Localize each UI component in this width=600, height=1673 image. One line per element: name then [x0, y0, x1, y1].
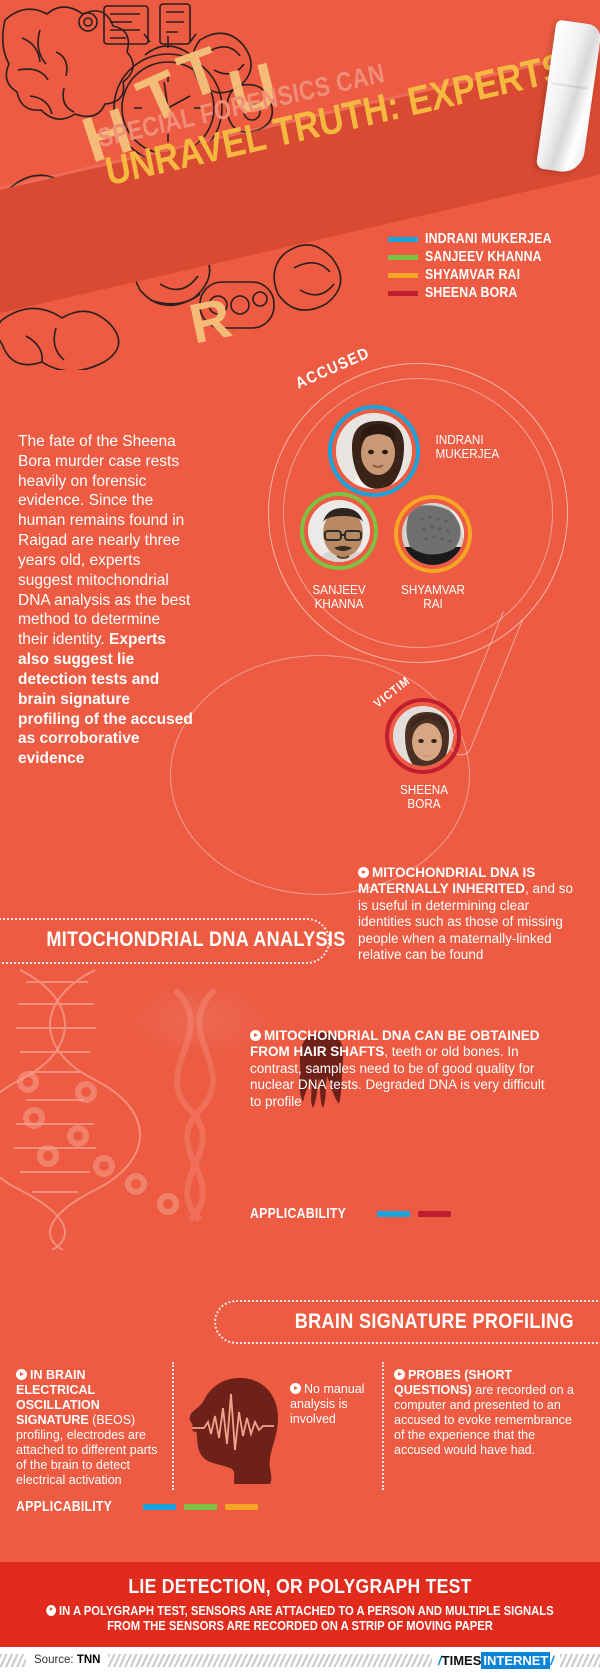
brain-col1-bold: IN BRAIN ELECTRICAL OSCILLATION SIGNATUR… [16, 1368, 100, 1427]
play-bullet-icon [46, 1605, 56, 1616]
polygraph-text-wrap: IN A POLYGRAPH TEST, SENSORS ARE ATTACHE… [39, 1604, 561, 1634]
footer-source: Source: TNN [34, 1654, 100, 1666]
portrait-indrani-mukerjea [328, 405, 420, 497]
mito-applicability-bar-sheena [418, 1211, 451, 1217]
legend-item-indrani: INDRANI MUKERJEA [388, 230, 588, 248]
mitochondrial-applicability: APPLICABILITY [250, 1205, 451, 1222]
logo-internet: INTERNET [481, 1652, 550, 1669]
legend: INDRANI MUKERJEA SANJEEV KHANNA SHYAMVAR… [388, 230, 588, 302]
polygraph-title: LIE DETECTION, OR POLYGRAPH TEST [128, 1576, 471, 1599]
legend-swatch-shyamvar [388, 273, 418, 278]
brain-applicability-bar-indrani [143, 1504, 176, 1510]
brain-col2-text: No manual analysis is involved [290, 1382, 364, 1426]
portrait-name-sanjeev: SANJEEV KHANNA [289, 583, 390, 610]
footer-source-label: Source: [34, 1654, 77, 1666]
indrani-name-line2: MUKERJEA [436, 446, 500, 461]
victim-ring [170, 655, 470, 895]
intro-bold-text: Experts also suggest lie detection tests… [18, 631, 193, 767]
portrait-sheena-bora [385, 698, 461, 774]
play-bullet-icon [250, 1030, 261, 1041]
play-bullet-icon [358, 867, 369, 878]
legend-label-indrani: INDRANI MUKERJEA [425, 231, 552, 247]
footer-hatch-middle [108, 1654, 432, 1667]
legend-swatch-indrani [388, 237, 418, 242]
times-internet-logo: /TIMESINTERNET/ [438, 1652, 554, 1669]
mitochondrial-section-title: MITOCHONDRIAL DNA ANALYSIS [46, 928, 345, 952]
sanjeev-name-line2: KHANNA [315, 596, 364, 611]
play-bullet-icon [394, 1369, 405, 1380]
brain-divider-left [172, 1362, 174, 1490]
play-bullet-icon [290, 1383, 301, 1394]
legend-label-sanjeev: SANJEEV KHANNA [425, 249, 542, 265]
brain-divider-right [382, 1362, 384, 1490]
brain-applicability-bar-sanjeev [184, 1504, 217, 1510]
mitochondrial-point-2: MITOCHONDRIAL DNA CAN BE OBTAINED FROM H… [250, 1028, 550, 1110]
portrait-name-indrani: INDRANI MUKERJEA [436, 433, 535, 460]
legend-swatch-sheena [388, 291, 418, 296]
brain-column-probes: PROBES (SHORT QUESTIONS) are recorded on… [394, 1368, 584, 1458]
infographic-page: H T T U R SPECIAL FORENSICS CAN UNRAVEL … [0, 0, 600, 1673]
brain-applicability-label: APPLICABILITY [16, 1498, 112, 1515]
intro-paragraph: The fate of the Sheena Bora murder case … [18, 432, 193, 769]
legend-item-shyamvar: SHYAMVAR RAI [388, 266, 588, 284]
mitochondrial-point-1: MITOCHONDRIAL DNA IS MATERNALLY INHERITE… [358, 865, 586, 964]
portrait-image-shyamvar [402, 503, 464, 565]
brain-column-no-manual: No manual analysis is involved [290, 1382, 376, 1427]
brain-section-title: BRAIN SIGNATURE PROFILING [295, 1310, 574, 1334]
logo-times: TIMES [442, 1653, 482, 1668]
legend-label-shyamvar: SHYAMVAR RAI [425, 267, 520, 283]
legend-item-sanjeev: SANJEEV KHANNA [388, 248, 588, 266]
mito-applicability-label: APPLICABILITY [250, 1205, 346, 1222]
brain-applicability: APPLICABILITY [16, 1498, 258, 1515]
intro-normal-text: The fate of the Sheena Bora murder case … [18, 433, 190, 648]
doodle-letter-r: R [184, 285, 237, 357]
header-section: H T T U R SPECIAL FORENSICS CAN UNRAVEL … [0, 0, 600, 370]
portrait-name-sheena: SHEENA BORA [374, 783, 475, 810]
portrait-shyamvar-rai [394, 495, 472, 573]
footer-bar: Source: TNN /TIMESINTERNET/ [0, 1647, 600, 1673]
footer-source-value: TNN [77, 1654, 101, 1666]
polygraph-section: LIE DETECTION, OR POLYGRAPH TEST IN A PO… [0, 1562, 600, 1647]
footer-hatch-right [560, 1654, 600, 1667]
play-bullet-icon [16, 1369, 27, 1380]
portrait-image-indrani [336, 413, 412, 489]
portrait-name-shyamvar: SHYAMVAR RAI [383, 583, 484, 610]
logo-slash-right: / [550, 1653, 554, 1668]
brain-column-beos: IN BRAIN ELECTRICAL OSCILLATION SIGNATUR… [16, 1368, 166, 1488]
mito-applicability-bar-indrani [377, 1211, 410, 1217]
mito-point-1-bold: MITOCHONDRIAL DNA IS MATERNALLY INHERITE… [358, 865, 535, 896]
legend-label-sheena: SHEENA BORA [425, 285, 517, 301]
portrait-sanjeev-khanna [300, 492, 378, 570]
portrait-image-sheena [393, 706, 453, 766]
footer-hatch-left [0, 1654, 26, 1667]
shyamvar-name-line2: RAI [423, 596, 443, 611]
legend-swatch-sanjeev [388, 255, 418, 260]
brain-applicability-bar-shyamvar [225, 1504, 258, 1510]
legend-item-sheena: SHEENA BORA [388, 284, 588, 302]
head-waveform-illustration [182, 1372, 292, 1492]
polygraph-text: IN A POLYGRAPH TEST, SENSORS ARE ATTACHE… [59, 1604, 554, 1633]
portrait-image-sanjeev [308, 500, 370, 562]
sheena-name-line2: BORA [407, 796, 440, 811]
